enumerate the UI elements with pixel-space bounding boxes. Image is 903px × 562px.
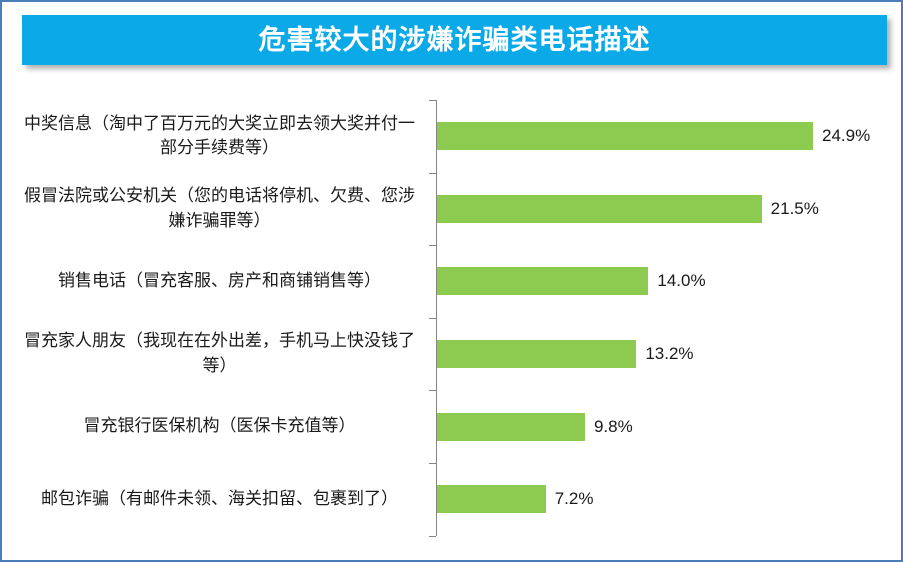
chart-row: 假冒法院或公安机关（您的电话将停机、欠费、您涉嫌诈骗罪等）21.5%: [2, 173, 901, 246]
bar-group: 14.0%: [437, 245, 706, 318]
bar-value-label: 9.8%: [594, 417, 633, 437]
chart-row: 冒充银行医保机构（医保卡充值等）9.8%: [2, 390, 901, 463]
category-label: 冒充家人朋友（我现在在外出差，手机马上快没钱了等）: [17, 318, 422, 391]
bar-value-label: 14.0%: [657, 271, 705, 291]
title-banner: 危害较大的涉嫌诈骗类电话描述: [22, 15, 887, 65]
bar: [437, 267, 648, 295]
chart-row: 冒充家人朋友（我现在在外出差，手机马上快没钱了等）13.2%: [2, 318, 901, 391]
axis-tick-end: [429, 536, 436, 537]
bar-group: 9.8%: [437, 390, 633, 463]
bar: [437, 413, 585, 441]
bar-group: 21.5%: [437, 173, 819, 246]
chart-row: 邮包诈骗（有邮件未领、海关扣留、包裹到了）7.2%: [2, 463, 901, 536]
chart-row: 销售电话（冒充客服、房产和商铺销售等）14.0%: [2, 245, 901, 318]
category-label: 邮包诈骗（有邮件未领、海关扣留、包裹到了）: [17, 463, 422, 536]
category-label: 冒充银行医保机构（医保卡充值等）: [17, 390, 422, 463]
axis-tick: [429, 390, 436, 391]
chart-rows: 中奖信息（淘中了百万元的大奖立即去领大奖并付一部分手续费等）24.9%假冒法院或…: [2, 100, 901, 536]
axis-tick: [429, 463, 436, 464]
category-label: 假冒法院或公安机关（您的电话将停机、欠费、您涉嫌诈骗罪等）: [17, 173, 422, 246]
bar-value-label: 24.9%: [822, 126, 870, 146]
bar-group: 7.2%: [437, 463, 593, 536]
bar: [437, 340, 636, 368]
bar-group: 24.9%: [437, 100, 870, 173]
page-title: 危害较大的涉嫌诈骗类电话描述: [259, 27, 651, 54]
category-label: 销售电话（冒充客服、房产和商铺销售等）: [17, 245, 422, 318]
bar-value-label: 21.5%: [771, 199, 819, 219]
bar: [437, 195, 762, 223]
category-label: 中奖信息（淘中了百万元的大奖立即去领大奖并付一部分手续费等）: [17, 100, 422, 173]
bar: [437, 122, 813, 150]
axis-tick: [429, 318, 436, 319]
axis-tick: [429, 173, 436, 174]
axis-tick: [429, 245, 436, 246]
bar-group: 13.2%: [437, 318, 694, 391]
axis-tick: [429, 100, 436, 101]
bar-value-label: 7.2%: [555, 489, 594, 509]
bar: [437, 485, 546, 513]
chart-page: 危害较大的涉嫌诈骗类电话描述 中奖信息（淘中了百万元的大奖立即去领大奖并付一部分…: [0, 0, 903, 562]
bar-value-label: 13.2%: [645, 344, 693, 364]
chart-row: 中奖信息（淘中了百万元的大奖立即去领大奖并付一部分手续费等）24.9%: [2, 100, 901, 173]
bar-chart: 中奖信息（淘中了百万元的大奖立即去领大奖并付一部分手续费等）24.9%假冒法院或…: [2, 88, 901, 560]
